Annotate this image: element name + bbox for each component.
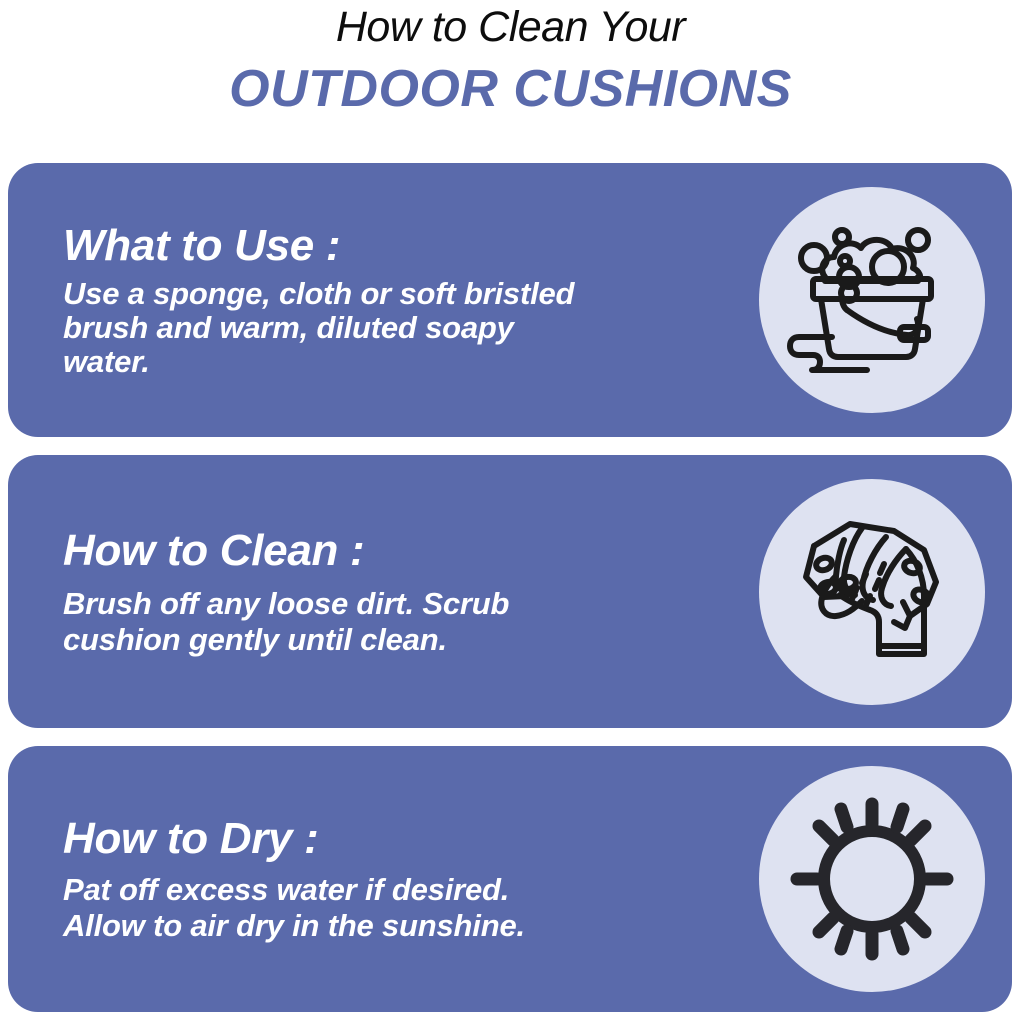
step-card-how-to-dry: How to Dry : Pat off excess water if des… bbox=[8, 746, 1012, 1012]
step-card-text: How to Clean : Brush off any loose dirt.… bbox=[8, 526, 756, 658]
step-body: Pat off excess water if desired. Allow t… bbox=[63, 872, 746, 944]
hand-with-sponge-icon bbox=[784, 504, 960, 680]
step-body: Brush off any loose dirt. Scrub cushion … bbox=[63, 586, 746, 658]
step-heading: What to Use : bbox=[63, 221, 746, 271]
steps-list: What to Use : Use a sponge, cloth or sof… bbox=[8, 163, 1012, 1012]
step-card-what-to-use: What to Use : Use a sponge, cloth or sof… bbox=[8, 163, 1012, 437]
icon-circle bbox=[759, 479, 985, 705]
title-line-primary: How to Clean Your bbox=[0, 2, 1021, 52]
infographic-poster: How to Clean Your OUTDOOR CUSHIONS What … bbox=[0, 0, 1021, 1024]
step-card-how-to-clean: How to Clean : Brush off any loose dirt.… bbox=[8, 455, 1012, 728]
step-icon-container bbox=[756, 763, 988, 995]
step-heading: How to Dry : bbox=[63, 814, 746, 864]
step-card-text: How to Dry : Pat off excess water if des… bbox=[8, 814, 756, 944]
bucket-with-suds-icon bbox=[787, 215, 957, 385]
step-card-text: What to Use : Use a sponge, cloth or sof… bbox=[8, 221, 756, 379]
poster-title: How to Clean Your OUTDOOR CUSHIONS bbox=[0, 0, 1021, 120]
icon-circle bbox=[759, 187, 985, 413]
step-body: Use a sponge, cloth or soft bristled bru… bbox=[63, 277, 746, 379]
title-line-accent: OUTDOOR CUSHIONS bbox=[0, 58, 1021, 120]
icon-circle bbox=[759, 766, 985, 992]
step-icon-container bbox=[756, 184, 988, 416]
step-heading: How to Clean : bbox=[63, 526, 746, 576]
sun-icon bbox=[787, 794, 957, 964]
step-icon-container bbox=[756, 476, 988, 708]
